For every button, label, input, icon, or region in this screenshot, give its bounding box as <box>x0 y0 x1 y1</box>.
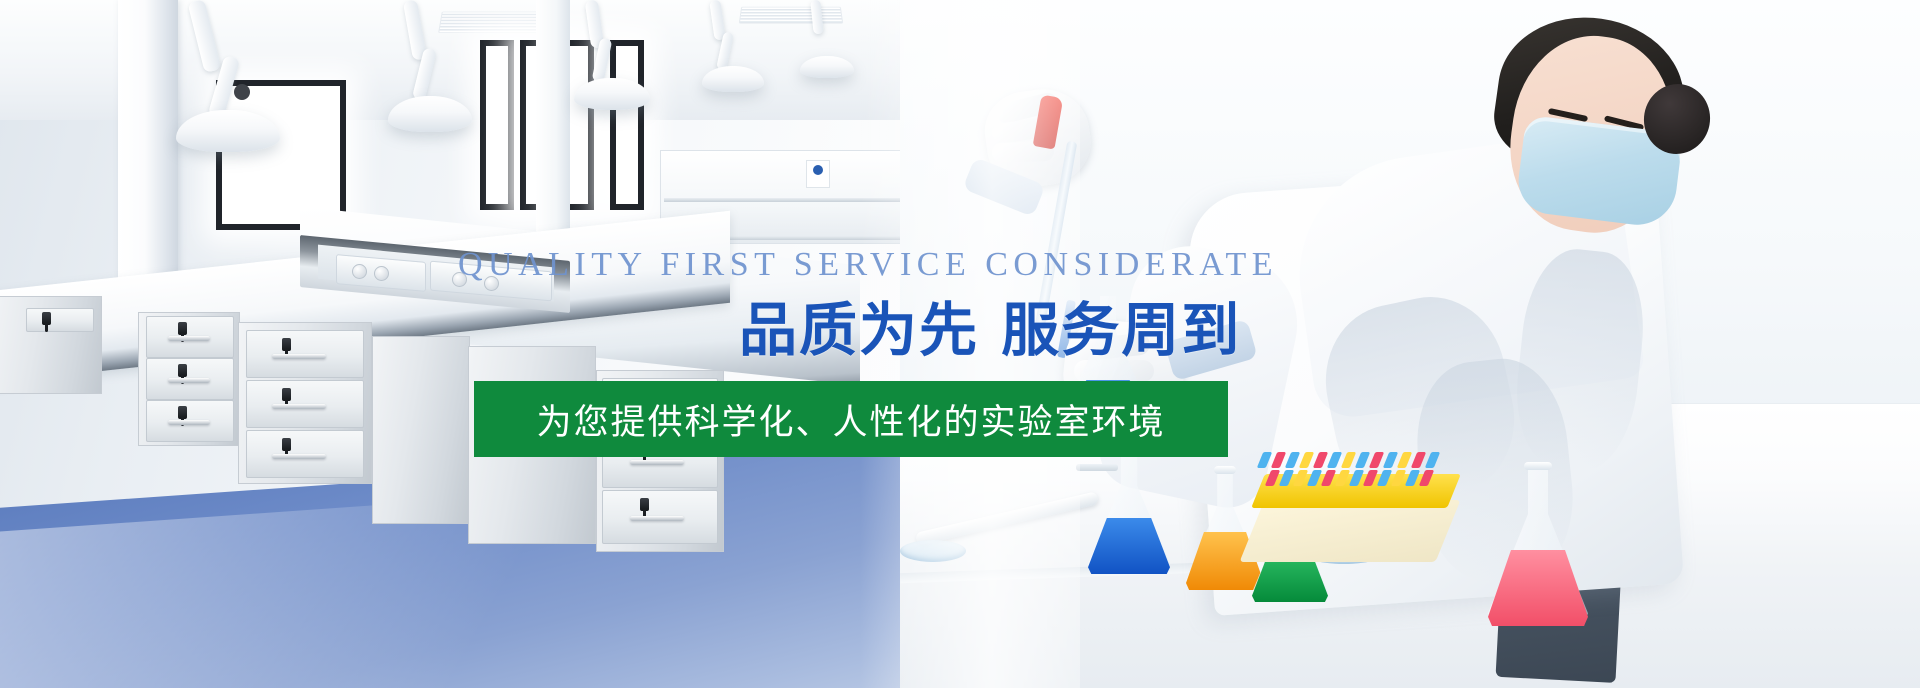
pipette-tip-icon <box>1349 470 1364 486</box>
pipette-tip-icon <box>1285 452 1300 468</box>
flask-liquid <box>1488 550 1588 626</box>
ceiling-vent-icon <box>739 7 843 24</box>
structural-column <box>118 0 178 310</box>
drawer-lock-icon[interactable] <box>640 442 649 455</box>
window <box>610 40 644 210</box>
pipette-tip-rack <box>1239 500 1460 562</box>
service-knob[interactable] <box>352 264 367 279</box>
drawer-handle[interactable] <box>168 336 210 341</box>
structural-column <box>536 0 570 250</box>
drawer-handle[interactable] <box>630 404 684 409</box>
pipette-tip-icon <box>1293 470 1308 486</box>
drawer-handle[interactable] <box>272 454 326 459</box>
petri-dish <box>900 540 966 562</box>
erlenmeyer-flask <box>1088 448 1170 574</box>
pipette-tip-icon <box>1411 452 1426 468</box>
drawer-lock-icon[interactable] <box>640 386 649 399</box>
pipette-tip-row <box>1257 452 1463 468</box>
hero-banner: QUALITY FIRST SERVICE CONSIDERATE 品质为先 服… <box>0 0 1920 688</box>
pipette-tip-icon <box>1383 452 1398 468</box>
drawer-handle[interactable] <box>630 460 684 465</box>
flask-rim <box>1214 466 1236 474</box>
pipette-tip-icon <box>1391 470 1406 486</box>
pipette-tip-icon <box>1271 452 1286 468</box>
flask-rim <box>1118 444 1141 452</box>
service-knob[interactable] <box>484 276 499 291</box>
window <box>480 40 514 210</box>
flask-liquid <box>1088 518 1170 574</box>
pipette-tip-icon <box>1369 452 1384 468</box>
drawer-lock-icon[interactable] <box>178 322 187 335</box>
drawer-handle[interactable] <box>168 420 210 425</box>
drawer-handle[interactable] <box>168 378 210 383</box>
pipette-tip-icon <box>1355 452 1370 468</box>
window <box>216 80 346 230</box>
drawer[interactable] <box>26 308 94 332</box>
service-knob[interactable] <box>374 266 389 281</box>
pipette-tip-icon <box>1307 470 1322 486</box>
pendant-lamp-icon <box>702 66 764 92</box>
tall-cabinet[interactable] <box>372 336 470 524</box>
pipette-tip-icon <box>1419 470 1434 486</box>
drawer-handle[interactable] <box>630 516 684 521</box>
flask-rim <box>1524 462 1552 470</box>
scientist-scene <box>900 0 1920 688</box>
arm-joint <box>234 84 250 100</box>
pipette-tip-icon <box>1335 470 1350 486</box>
laboratory-photo <box>0 0 1920 688</box>
drawer-lock-icon[interactable] <box>178 364 187 377</box>
pipette-tip-row <box>1265 470 1471 486</box>
pipette-tip-icon <box>1341 452 1356 468</box>
tall-cabinet[interactable] <box>468 346 596 544</box>
drawer-lock-icon[interactable] <box>282 388 291 401</box>
drawer-lock-icon[interactable] <box>640 498 649 511</box>
pipette-tip-icon <box>1279 470 1294 486</box>
pipette-tip-icon <box>1327 452 1342 468</box>
pipette-tip-icon <box>1397 452 1412 468</box>
drawer-lock-icon[interactable] <box>282 438 291 451</box>
pipette-tip-icon <box>1405 470 1420 486</box>
drawer-lock-icon[interactable] <box>178 406 187 419</box>
pipette-tip-icon <box>1377 470 1392 486</box>
pipette-tip-icon <box>1425 452 1440 468</box>
service-knob[interactable] <box>452 272 467 287</box>
drawer-lock-icon[interactable] <box>282 338 291 351</box>
pipette-tip-icon <box>1313 452 1328 468</box>
pipette-tip-icon <box>1299 452 1314 468</box>
pipette-tip-icon <box>1321 470 1336 486</box>
erlenmeyer-flask <box>1068 296 1148 416</box>
wall-logo-icon <box>806 160 830 188</box>
pipette-tip-icon <box>1363 470 1378 486</box>
drawer-handle[interactable] <box>272 354 326 359</box>
drawer-handle[interactable] <box>272 404 326 409</box>
drawer-lock-icon[interactable] <box>42 312 51 325</box>
pendant-lamp-icon <box>800 56 854 78</box>
erlenmeyer-flask <box>1488 466 1588 626</box>
